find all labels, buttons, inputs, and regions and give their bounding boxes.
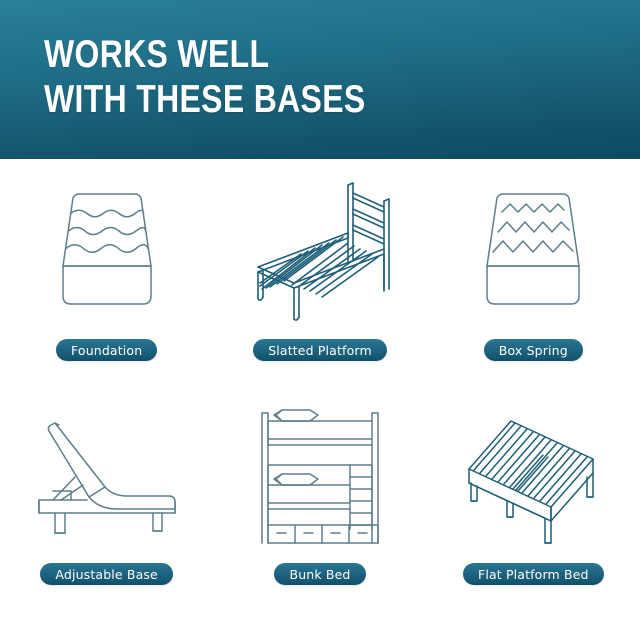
header-banner: WORKS WELL WITH THESE BASES bbox=[0, 0, 640, 159]
page-title-line-1: WORKS WELL bbox=[44, 32, 533, 77]
base-label-box-spring: Box Spring bbox=[484, 339, 583, 361]
page-title-line-2: WITH THESE BASES bbox=[44, 77, 533, 122]
base-card-flat-platform-bed[interactable]: Flat Platform Bed bbox=[427, 391, 640, 609]
slatted-platform-bed-icon bbox=[220, 167, 420, 337]
base-card-slatted-platform[interactable]: Slatted Platform bbox=[213, 167, 426, 385]
bases-row-2: Adjustable Base bbox=[0, 391, 640, 609]
mattress-foundation-icon bbox=[7, 167, 207, 337]
flat-platform-bed-icon bbox=[433, 391, 633, 561]
bases-row-1: Foundation bbox=[0, 167, 640, 385]
base-card-bunk-bed[interactable]: Bunk Bed bbox=[213, 391, 426, 609]
bunk-bed-icon bbox=[220, 391, 420, 561]
base-card-foundation[interactable]: Foundation bbox=[0, 167, 213, 385]
adjustable-base-icon bbox=[7, 391, 207, 561]
base-label-flat-platform-bed: Flat Platform Bed bbox=[463, 563, 604, 585]
base-label-slatted-platform: Slatted Platform bbox=[253, 339, 387, 361]
bases-grid: Foundation bbox=[0, 159, 640, 640]
base-card-box-spring[interactable]: Box Spring bbox=[427, 167, 640, 385]
base-label-bunk-bed: Bunk Bed bbox=[274, 563, 365, 585]
base-label-adjustable-base: Adjustable Base bbox=[40, 563, 173, 585]
box-spring-icon bbox=[433, 167, 633, 337]
page-title: WORKS WELL WITH THESE BASES bbox=[44, 32, 533, 122]
base-label-foundation: Foundation bbox=[56, 339, 157, 361]
base-card-adjustable-base[interactable]: Adjustable Base bbox=[0, 391, 213, 609]
